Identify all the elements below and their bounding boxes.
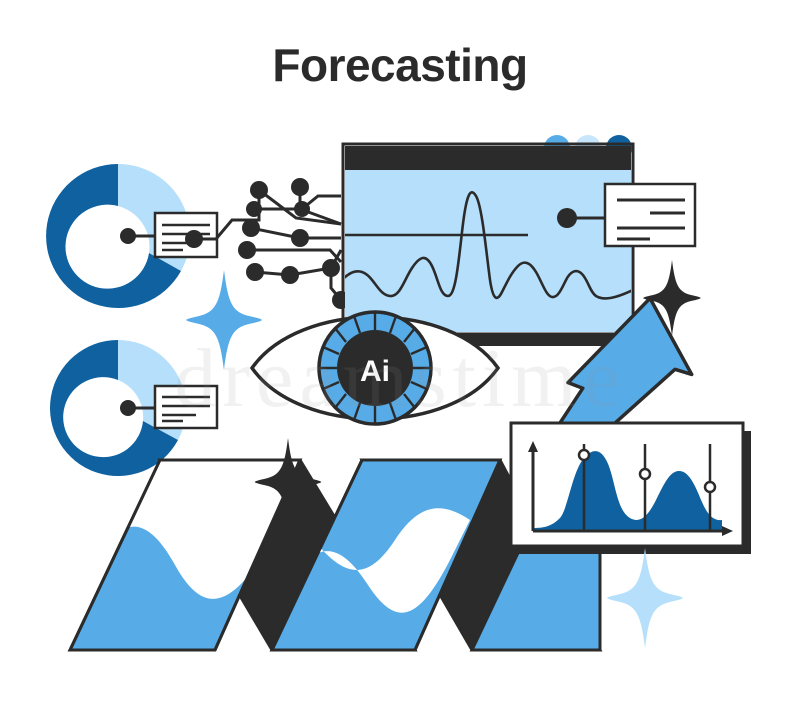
donut-top-callout bbox=[120, 213, 217, 257]
forecasting-illustration: Ai bbox=[0, 0, 800, 728]
monitor-callout-dot bbox=[557, 208, 577, 228]
circuit-node bbox=[250, 181, 268, 199]
circuit-node bbox=[322, 259, 340, 277]
circuit-node bbox=[242, 219, 260, 237]
circuit-node bbox=[185, 230, 203, 248]
circuit-node bbox=[246, 263, 264, 281]
sparkle-blue-left bbox=[186, 270, 262, 370]
area-chart-marker bbox=[705, 482, 715, 492]
circuit-node bbox=[294, 201, 310, 217]
monitor-titlebar bbox=[345, 146, 631, 170]
area-chart-marker bbox=[640, 469, 650, 479]
monitor-callout-frame bbox=[605, 184, 695, 246]
donut-bottom-callout-dot bbox=[120, 400, 136, 416]
eye-ai-label: Ai bbox=[360, 355, 390, 388]
area-chart-marker bbox=[579, 450, 589, 460]
circuit-node bbox=[281, 266, 299, 284]
sparkle-pale-bottom bbox=[607, 548, 683, 648]
donut-top-callout-dot bbox=[120, 228, 136, 244]
area-chart-panel bbox=[511, 423, 751, 554]
illustration-canvas: Forecasting bbox=[0, 0, 800, 728]
monitor-screen bbox=[345, 170, 631, 332]
circuit-node bbox=[246, 201, 262, 217]
circuit-node bbox=[291, 229, 309, 247]
circuit-node bbox=[291, 178, 309, 196]
circuit-node bbox=[238, 241, 256, 259]
